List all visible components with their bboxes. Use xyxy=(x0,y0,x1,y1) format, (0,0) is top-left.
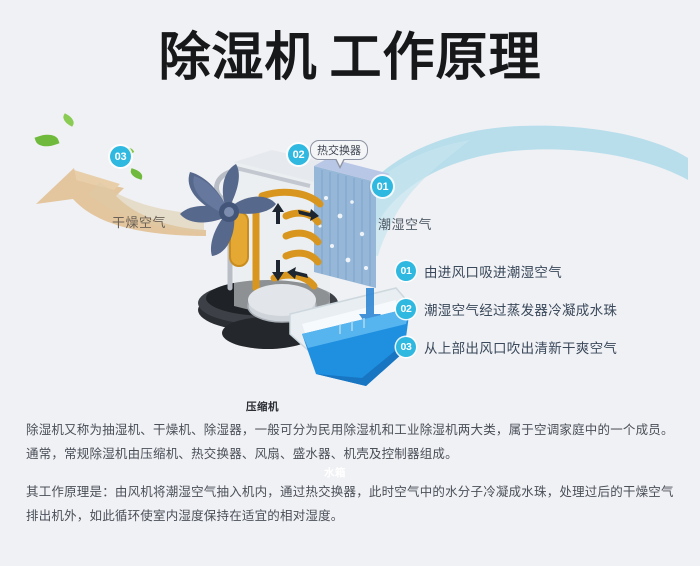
paragraph-1-line-1: 除湿机又称为抽湿机、干燥机、除湿器，一般可分为民用除湿机和工业除湿机两大类，属于… xyxy=(26,418,676,442)
legend-list: 01 由进风口吸进潮湿空气 02 潮湿空气经过蒸发器冷凝成水珠 03 从上部出风… xyxy=(396,252,696,366)
legend-text-02: 潮湿空气经过蒸发器冷凝成水珠 xyxy=(424,299,617,319)
moist-air-label: 潮湿空气 xyxy=(378,214,432,233)
legend-badge-01: 01 xyxy=(396,261,416,281)
legend-item: 03 从上部出风口吹出清新干爽空气 xyxy=(396,328,696,366)
paragraph-1: 除湿机又称为抽湿机、干燥机、除湿器，一般可分为民用除湿机和工业除湿机两大类，属于… xyxy=(26,418,676,466)
diagram-badge-02: 02 xyxy=(288,144,309,165)
paragraph-1-line-2: 通常，常规除湿机由压缩机、热交换器、风扇、盛水器、机壳及控制器组成。 xyxy=(26,442,676,466)
leaf-icon xyxy=(35,131,60,150)
compressor-label: 压缩机 xyxy=(246,399,279,414)
legend-text-01: 由进风口吸进潮湿空气 xyxy=(424,261,562,281)
legend-item: 01 由进风口吸进潮湿空气 xyxy=(396,252,696,290)
title-text: 除湿机工作原理 xyxy=(158,28,541,89)
paragraph-2-line-1: 其工作原理是：由风机将潮湿空气抽入机内，通过热交换器，此时空气中的水分子冷凝成水… xyxy=(26,480,676,504)
title-part-1: 除湿机 xyxy=(158,28,317,88)
fan-icon xyxy=(176,162,284,262)
title-part-2: 工作原理 xyxy=(330,28,542,88)
page-title: 除湿机工作原理 xyxy=(0,28,700,89)
page-root: 除湿机工作原理 xyxy=(0,0,700,566)
description-block: 除湿机又称为抽湿机、干燥机、除湿器，一般可分为民用除湿机和工业除湿机两大类，属于… xyxy=(26,418,676,528)
paragraph-2-line-2: 排出机外，如此循环使室内湿度保持在适宜的相对湿度。 xyxy=(26,504,676,528)
dry-air-label: 干燥空气 xyxy=(112,212,166,231)
legend-item: 02 潮湿空气经过蒸发器冷凝成水珠 xyxy=(396,290,696,328)
leaf-icon xyxy=(61,113,76,126)
legend-badge-02: 02 xyxy=(396,299,416,319)
heat-exchanger-callout: 热交换器 xyxy=(310,140,368,160)
diagram-badge-03: 03 xyxy=(110,146,131,167)
diagram-badge-01: 01 xyxy=(372,176,393,197)
paragraph-2: 其工作原理是：由风机将潮湿空气抽入机内，通过热交换器，此时空气中的水分子冷凝成水… xyxy=(26,480,676,528)
legend-badge-03: 03 xyxy=(396,337,416,357)
heat-exchanger-label: 热交换器 xyxy=(317,144,361,157)
legend-text-03: 从上部出风口吹出清新干爽空气 xyxy=(424,337,617,357)
callout-tail-icon xyxy=(335,159,345,169)
